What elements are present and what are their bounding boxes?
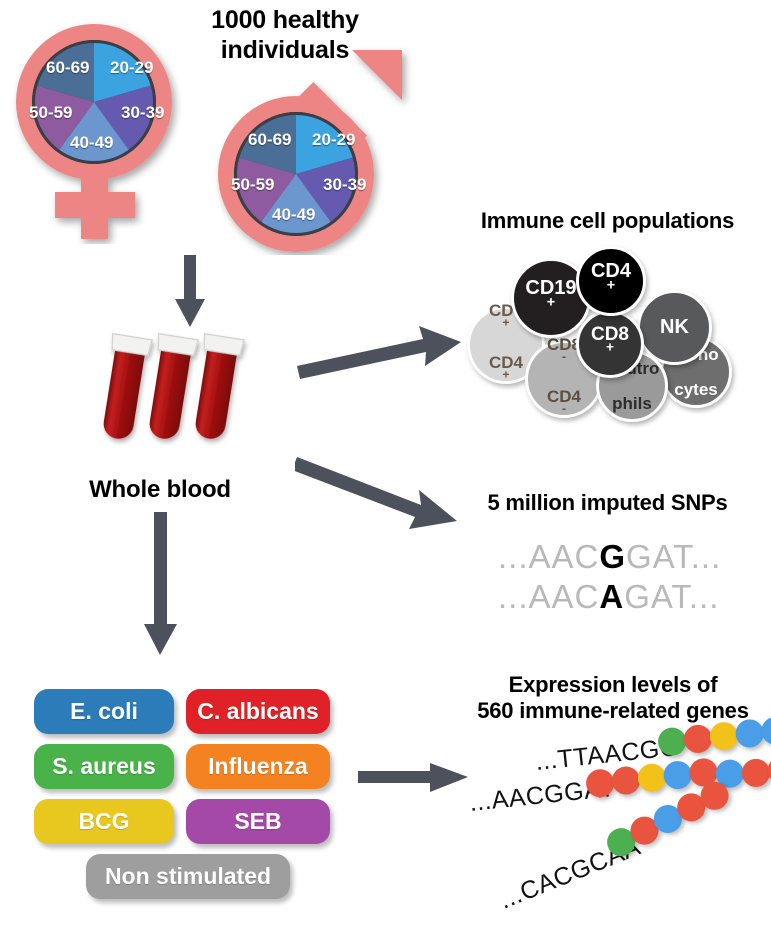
figure-canvas: 1000 healthy individuals <box>0 0 771 922</box>
cell-sup-cd4: + <box>607 277 615 293</box>
male-symbol: 20-29 30-39 40-49 50-59 60-69 <box>200 40 420 255</box>
gene-bead <box>662 760 693 791</box>
stimulation-label-e-coli: E. coli <box>70 698 138 725</box>
stimulation-pill-influenza[interactable]: Influenza <box>186 744 330 789</box>
expression-title-line2: 560 immune-related genes <box>455 698 771 724</box>
cell-sup-cd8p: + <box>502 315 509 329</box>
whole-blood-label: Whole blood <box>60 476 260 504</box>
stimulation-label-seb: SEB <box>234 808 281 835</box>
snp-prefix-2: ...AAC <box>498 578 599 615</box>
cell-sup-cd8n: - <box>562 349 566 363</box>
immune-cell-cd4: CD4+ <box>576 246 646 316</box>
stimulation-label-c-albicans: C. albicans <box>197 698 318 725</box>
stimulation-pill-e-coli[interactable]: E. coli <box>34 689 174 734</box>
stimulation-label-s-aureus: S. aureus <box>52 753 156 780</box>
arrow-blood-to-immune <box>295 322 465 382</box>
stimulation-label-non-stimulated: Non stimulated <box>105 863 271 890</box>
snp-title: 5 million imputed SNPs <box>455 490 760 516</box>
cell-label-nk: NK <box>660 317 689 337</box>
gene-bead <box>760 715 771 746</box>
cell-sup-cd19: + <box>547 294 555 310</box>
stimulation-pill-non-stimulated[interactable]: Non stimulated <box>86 854 290 899</box>
stimulation-pill-seb[interactable]: SEB <box>186 799 330 844</box>
cell-sup-cd4n: - <box>562 401 566 415</box>
snp-suffix-1: GAT... <box>626 538 721 575</box>
gene-bead <box>636 762 667 793</box>
immune-cell-title: Immune cell populations <box>455 208 760 234</box>
blood-tubes <box>95 330 275 465</box>
stimulation-pill-s-aureus[interactable]: S. aureus <box>34 744 174 789</box>
cell-sup-cd8: + <box>606 340 614 355</box>
snp-variant-2: A <box>599 578 624 615</box>
arrow-blood-to-snps <box>295 455 465 540</box>
stimulation-label-influenza: Influenza <box>208 753 308 780</box>
arrow-cohort-to-blood <box>170 255 210 330</box>
gene-bead <box>741 758 771 789</box>
cell-label-neutro-2: phils <box>605 395 660 412</box>
gene-bead <box>683 724 714 755</box>
expression-title-line1: Expression levels of <box>455 672 771 698</box>
immune-cell-cd8: CD8+ <box>576 310 644 378</box>
cell-sup-cd4p: + <box>502 367 509 381</box>
gene-bead <box>708 721 739 752</box>
stimulation-pill-bcg[interactable]: BCG <box>34 799 174 844</box>
snp-variant-1: G <box>599 538 626 575</box>
cell-label-mono-2: cytes <box>673 381 718 398</box>
snp-sequence-row-1: ...AACGGAT... <box>498 538 721 576</box>
snp-suffix-2: GAT... <box>624 578 719 615</box>
female-symbol: 20-29 30-39 40-49 50-59 60-69 <box>8 14 198 244</box>
arrow-blood-to-stimulations <box>140 512 182 658</box>
stimulation-pill-c-albicans[interactable]: C. albicans <box>186 689 330 734</box>
snp-prefix-1: ...AAC <box>498 538 599 575</box>
gene-bead <box>734 718 765 749</box>
stimulation-label-bcg: BCG <box>78 808 129 835</box>
arrow-stimulation-to-expression <box>358 758 470 798</box>
expression-title: Expression levels of 560 immune-related … <box>455 672 771 724</box>
page-title-line1: 1000 healthy <box>180 6 390 36</box>
snp-sequence-row-2: ...AACAGAT... <box>498 578 719 616</box>
